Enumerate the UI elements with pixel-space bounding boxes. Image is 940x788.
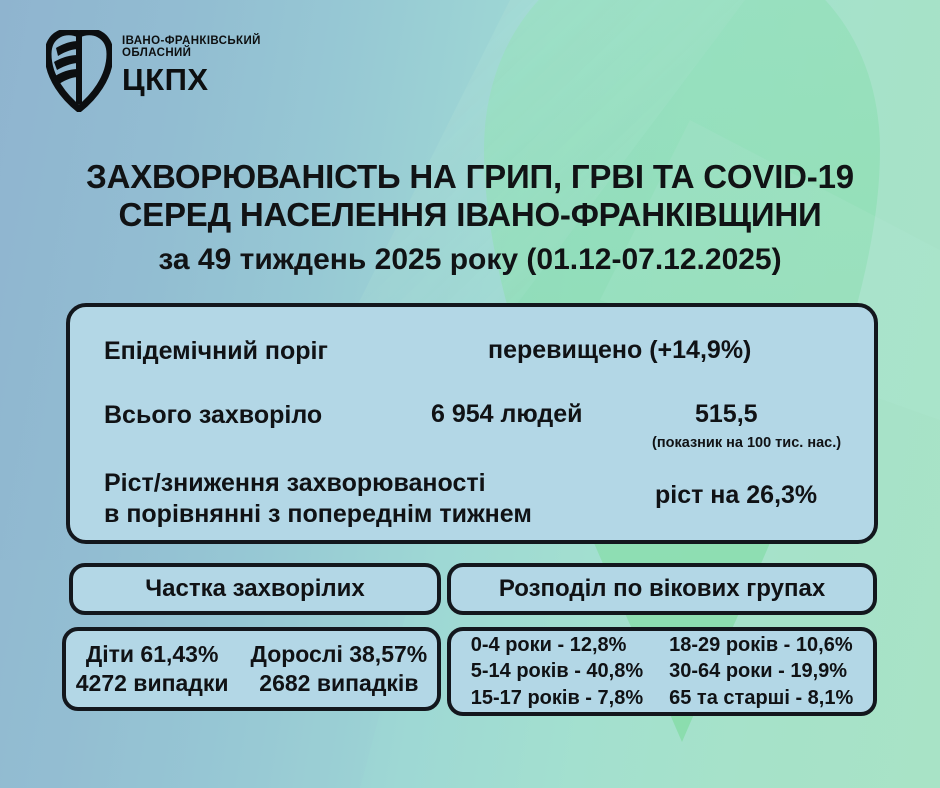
epidemic-threshold-value: перевищено (+14,9%): [488, 336, 751, 365]
age-group-15-17: 15-17 років - 7,8%: [471, 685, 643, 711]
age-group-18-29: 18-29 років - 10,6%: [669, 632, 853, 658]
age-group-5-14: 5-14 років - 40,8%: [471, 658, 643, 684]
age-section-header-label: Розподіл по вікових групах: [499, 575, 825, 603]
share-section-header-label: Частка захворілих: [145, 575, 364, 603]
incidence-rate-value: 515,5: [695, 400, 758, 429]
share-grid: Діти 61,43% Дорослі 38,57% 4272 випадки …: [76, 640, 427, 697]
age-grid: 0-4 роки - 12,8% 18-29 років - 10,6% 5-1…: [457, 632, 867, 711]
infographic-poster: ІВАНО-ФРАНКІВСЬКИЙ ОБЛАСНИЙ ЦКПХ ЗАХВОРЮ…: [0, 0, 940, 788]
age-group-65-plus: 65 та старші - 8,1%: [669, 685, 853, 711]
age-section-header: Розподіл по вікових групах: [447, 563, 877, 615]
share-section-header: Частка захворілих: [69, 563, 441, 615]
title-line-3: за 49 тиждень 2025 року (01.12-07.12.202…: [0, 240, 940, 279]
logo-line-1: ІВАНО-ФРАНКІВСЬКИЙ: [122, 35, 261, 47]
incidence-rate-note: (показник на 100 тис. нас.): [652, 435, 841, 451]
weekly-change-value: ріст на 26,3%: [655, 481, 817, 510]
title-line-1: ЗАХВОРЮВАНІСТЬ НА ГРИП, ГРВІ ТА COVID-19: [0, 158, 940, 196]
children-cases: 4272 випадки: [76, 669, 229, 698]
age-section-body: 0-4 роки - 12,8% 18-29 років - 10,6% 5-1…: [447, 627, 877, 716]
logo-line-2: ОБЛАСНИЙ: [122, 47, 261, 59]
logo-abbreviation: ЦКПХ: [122, 64, 261, 95]
weekly-change-label: Ріст/зниження захворюваності в порівнянн…: [104, 468, 532, 529]
age-group-30-64: 30-64 роки - 19,9%: [669, 658, 853, 684]
weekly-change-label-line-1: Ріст/зниження захворюваності: [104, 468, 532, 499]
title-line-2: СЕРЕД НАСЕЛЕННЯ ІВАНО-ФРАНКІВЩИНИ: [0, 196, 940, 234]
organization-logo: ІВАНО-ФРАНКІВСЬКИЙ ОБЛАСНИЙ ЦКПХ: [46, 30, 261, 112]
epidemic-threshold-label: Епідемічний поріг: [104, 336, 328, 367]
weekly-change-label-line-2: в порівнянні з попереднім тижнем: [104, 499, 532, 530]
adults-percent: Дорослі 38,57%: [251, 640, 428, 669]
share-section-body: Діти 61,43% Дорослі 38,57% 4272 випадки …: [62, 627, 441, 711]
age-group-0-4: 0-4 роки - 12,8%: [471, 632, 643, 658]
shield-heart-icon: [46, 30, 112, 112]
children-percent: Діти 61,43%: [76, 640, 229, 669]
page-title: ЗАХВОРЮВАНІСТЬ НА ГРИП, ГРВІ ТА COVID-19…: [0, 158, 940, 279]
main-stats-panel: Епідемічний поріг перевищено (+14,9%) Вс…: [66, 303, 878, 544]
total-cases-label: Всього захворіло: [104, 400, 322, 431]
adults-cases: 2682 випадків: [251, 669, 428, 698]
total-cases-value: 6 954 людей: [431, 400, 583, 429]
